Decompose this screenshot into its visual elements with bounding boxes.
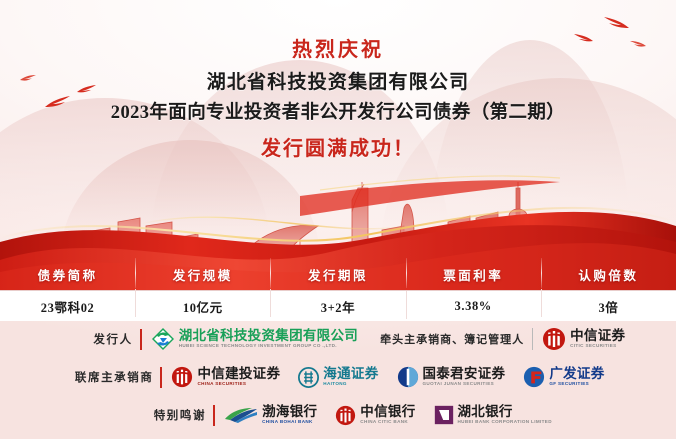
bohai-wave-icon [224, 405, 258, 425]
bond-summary-table: 债券简称 发行规模 发行期限 票面利率 认购倍数 23鄂科02 10亿元 3+2… [0, 258, 676, 321]
partner-row-issuer: 发行人 湖北省科技投资集团有限公司 HUBEI SCIENCE TECHNOLO… [0, 320, 676, 358]
table-header-cell: 认购倍数 [541, 265, 676, 284]
table-cell-subscription-multiple: 3倍 [541, 297, 676, 316]
logo-name-cn: 海通证券 [323, 367, 378, 381]
swirl-diamond-icon [151, 327, 175, 351]
logo-hubei-bank: 湖北银行 HUBEI BANK CORPORATION LIMITED [434, 405, 552, 425]
poster-canvas: 热烈庆祝 湖北省科技投资集团有限公司 2023年面向专业投资者非公开发行公司债券… [0, 0, 676, 439]
partner-row-special-thanks: 特别鸣谢 渤海银行 CHINA BOHAI BANK [0, 396, 676, 434]
logo-name-cn: 湖北银行 [458, 405, 552, 419]
logo-name-cn: 中信银行 [360, 405, 415, 419]
logo-name-en: CITIC SECURITIES [570, 344, 625, 349]
logo-china-securities: 中信建投证券 CHINA SECURITIES [171, 366, 280, 388]
table-header-cell: 票面利率 [406, 265, 541, 284]
logo-hubei-science-investment: 湖北省科技投资集团有限公司 HUBEI SCIENCE TECHNOLOGY I… [151, 327, 358, 351]
table-header-cell: 发行规模 [135, 265, 270, 284]
lead-underwriter-label: 牵头主承销商、簿记管理人 [380, 331, 524, 347]
partner-row-label: 联席主承销商 [71, 369, 160, 385]
logo-name-en: CHINA CITIC BANK [360, 420, 415, 425]
haitong-circle-icon [298, 367, 319, 388]
divider [140, 329, 142, 350]
table-cell-coupon-rate: 3.38% [406, 299, 541, 314]
table-cell-bond-code: 23鄂科02 [0, 297, 135, 316]
logo-name-en: GUOTAI JUNAN SECURITIES [423, 382, 506, 387]
logo-name-en: CHINA SECURITIES [197, 382, 280, 387]
flying-bird-icon [596, 16, 630, 30]
headline-celebrate: 热烈庆祝 [0, 38, 676, 63]
logo-haitong-securities: 海通证券 HAITONG [298, 367, 378, 388]
divider [160, 367, 162, 388]
logo-guotai-junan-securities: 国泰君安证券 GUOTAI JUNAN SECURITIES [397, 366, 506, 388]
partner-row-joint-underwriters: 联席主承销商 中信建投证券 CHINA SECURITIES [0, 358, 676, 396]
headline-success: 发行圆满成功！ [0, 132, 676, 161]
headline-block: 热烈庆祝 湖北省科技投资集团有限公司 2023年面向专业投资者非公开发行公司债券… [0, 38, 676, 161]
logo-name-en: HUBEI BANK CORPORATION LIMITED [458, 420, 552, 425]
logo-citic-securities: 中信证券 CITIC SECURITIES [542, 327, 625, 351]
logo-china-citic-bank: 中信银行 CHINA CITIC BANK [335, 405, 415, 426]
logo-name-cn: 中信建投证券 [197, 367, 280, 381]
divider [213, 405, 215, 426]
divider [532, 328, 533, 350]
citic-circle-icon [542, 327, 566, 351]
table-cell-term: 3+2年 [270, 297, 405, 316]
table-data-row: 23鄂科02 10亿元 3+2年 3.38% 3倍 [0, 290, 676, 321]
partner-rows: 发行人 湖北省科技投资集团有限公司 HUBEI SCIENCE TECHNOLO… [0, 320, 676, 434]
logo-name-en: HUBEI SCIENCE TECHNOLOGY INVESTMENT GROU… [179, 344, 358, 349]
logo-name-cn: 渤海银行 [262, 405, 317, 419]
headline-issuer-name: 湖北省科技投资集团有限公司 [0, 69, 676, 98]
logo-name-en: CHINA BOHAI BANK [262, 420, 317, 425]
gf-circle-icon [523, 366, 545, 388]
hubei-square-icon [434, 405, 454, 425]
partner-row-label: 发行人 [51, 331, 140, 347]
table-cell-issue-size: 10亿元 [135, 297, 270, 316]
logo-china-bohai-bank: 渤海银行 CHINA BOHAI BANK [224, 405, 317, 425]
citic-circle-icon [171, 366, 193, 388]
logo-name-en: HAITONG [323, 382, 378, 387]
logo-name-en: GF SECURITIES [549, 382, 604, 387]
logo-name-cn: 湖北省科技投资集团有限公司 [179, 329, 358, 343]
logo-name-cn: 中信证券 [570, 329, 625, 343]
table-header-cell: 债券简称 [0, 265, 135, 284]
citic-circle-icon [335, 405, 356, 426]
partner-row-label: 特别鸣谢 [124, 407, 213, 423]
guotai-circle-icon [397, 366, 419, 388]
headline-bond-name: 2023年面向专业投资者非公开发行公司债券（第二期） [0, 100, 676, 128]
table-header-row: 债券简称 发行规模 发行期限 票面利率 认购倍数 [0, 258, 676, 290]
logo-name-cn: 国泰君安证券 [423, 367, 506, 381]
table-header-cell: 发行期限 [270, 265, 405, 284]
logo-name-cn: 广发证券 [549, 367, 604, 381]
logo-gf-securities: 广发证券 GF SECURITIES [523, 366, 604, 388]
